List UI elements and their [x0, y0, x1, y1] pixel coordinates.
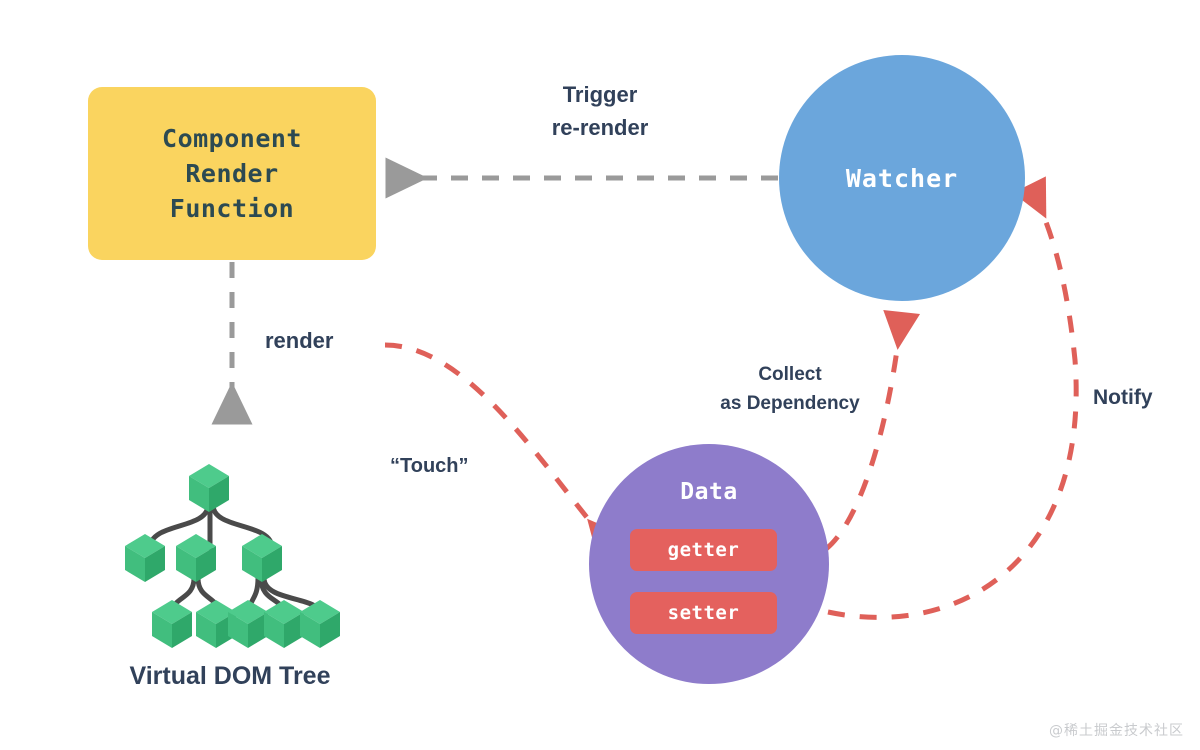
edge-touch: [385, 345, 608, 543]
vdom-node: [300, 600, 340, 648]
virtual-dom-tree: [125, 464, 340, 648]
vdom-node: [264, 600, 304, 648]
component-render-function-label: Component Render Function: [162, 121, 302, 226]
getter-box[interactable]: getter: [630, 529, 777, 571]
edge-label-touch: “Touch”: [390, 455, 469, 478]
setter-box[interactable]: setter: [630, 592, 777, 634]
edge-label-collect-as-dependency: Collect as Dependency: [660, 360, 920, 418]
vdom-node: [152, 600, 192, 648]
edge-collect-as-dependency: [826, 318, 901, 549]
vdom-node: [242, 534, 282, 582]
watcher-node[interactable]: Watcher: [779, 55, 1025, 301]
edge-label-notify: Notify: [1093, 386, 1153, 410]
data-label: Data: [589, 479, 829, 505]
component-render-function-node[interactable]: Component Render Function: [88, 87, 376, 260]
diagram-canvas: Component Render Function Watcher Data g…: [0, 0, 1200, 750]
watcher-label: Watcher: [846, 164, 958, 193]
data-node[interactable]: Data getter setter: [589, 444, 829, 684]
edge-label-render: render: [265, 328, 333, 354]
virtual-dom-tree-caption: Virtual DOM Tree: [80, 662, 380, 691]
vdom-node: [228, 600, 268, 648]
vdom-node: [125, 534, 165, 582]
edge-label-trigger-re-render: Trigger re-render: [460, 78, 740, 144]
vdom-node: [189, 464, 229, 512]
watermark: @稀土掘金技术社区: [1049, 720, 1184, 740]
